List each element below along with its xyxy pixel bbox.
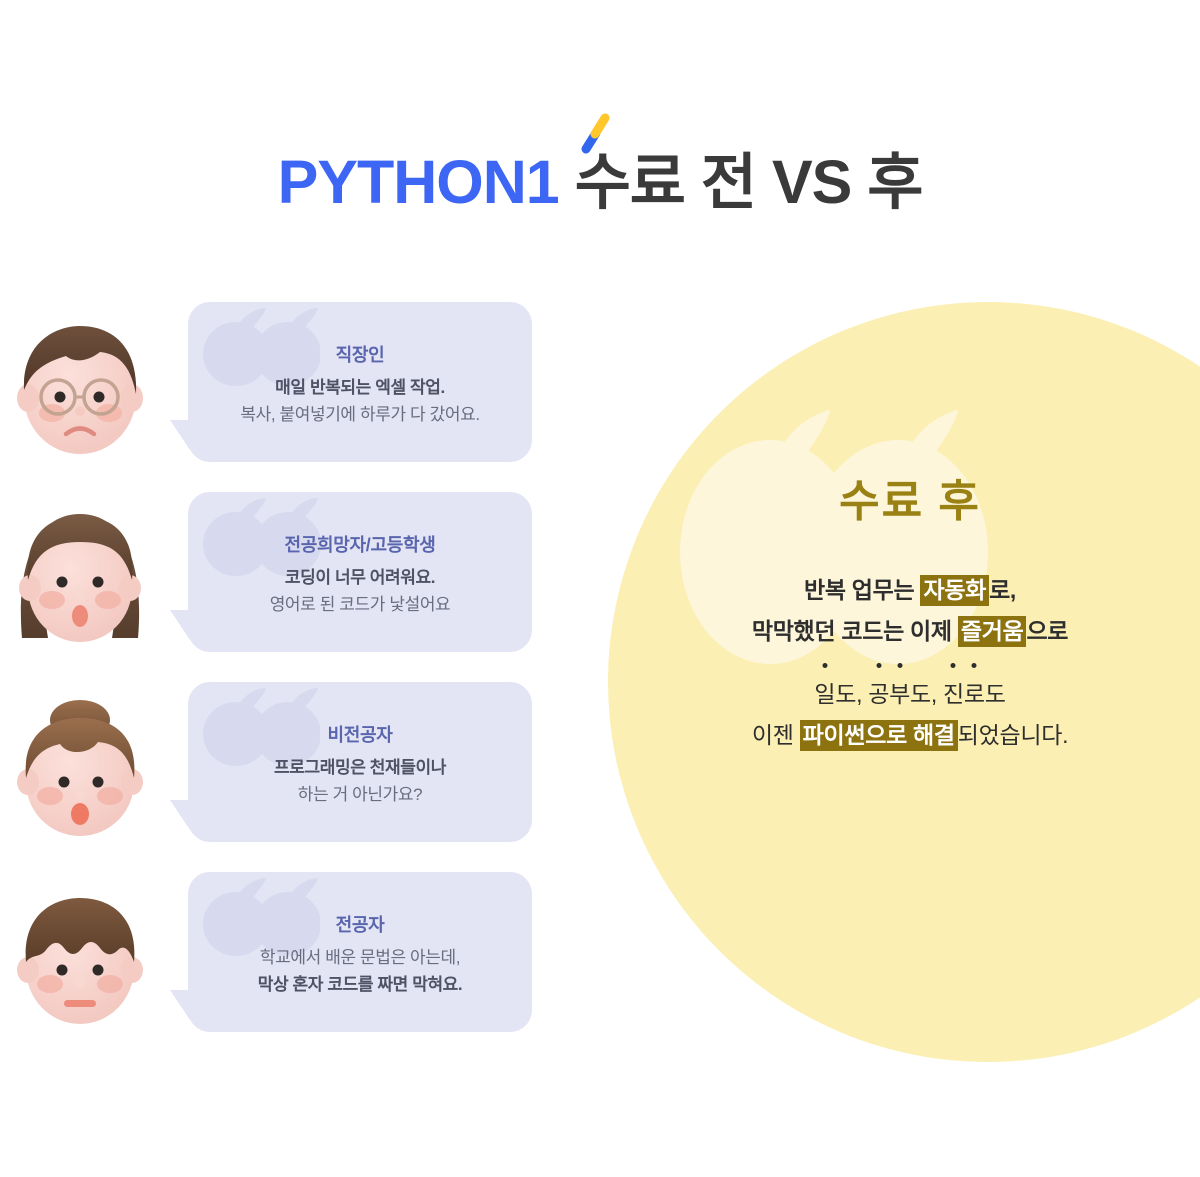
testimonial-bubble[interactable]: 직장인 매일 반복되는 엑셀 작업. 복사, 붙여넣기에 하루가 다 갔어요.	[188, 302, 532, 462]
testimonial-line-2: 하는 거 아닌가요?	[210, 782, 510, 808]
after-line-4-post: 되었습니다.	[958, 722, 1068, 748]
bubble-tail	[170, 420, 190, 450]
after-line-2-pre: 막막했던 코드는 이제	[752, 618, 958, 644]
bubble-content: 전공희망자/고등학생 코딩이 너무 어려워요. 영어로 된 코드가 낯설어요	[188, 492, 532, 652]
testimonial-line-2: 영어로 된 코드가 낯설어요	[210, 592, 510, 618]
page-title-brand: PYTHON1	[278, 148, 559, 216]
testimonial-bubble[interactable]: 전공희망자/고등학생 코딩이 너무 어려워요. 영어로 된 코드가 낯설어요	[188, 492, 532, 652]
after-line-3: 일도, 공부도, 진로도	[620, 674, 1200, 715]
bubble-content: 직장인 매일 반복되는 엑셀 작업. 복사, 붙여넣기에 하루가 다 갔어요.	[188, 302, 532, 462]
page-title: PYTHON1 수료 전 VS 후	[0, 152, 1200, 213]
after-line-3-seg: 도,	[910, 681, 943, 707]
testimonial-role: 직장인	[210, 344, 510, 367]
testimonial-role: 전공희망자/고등학생	[210, 534, 510, 557]
after-line-3-seg: 도,	[835, 681, 868, 707]
testimonial-bubble[interactable]: 비전공자 프로그래밍은 천재들이나 하는 거 아닌가요?	[188, 682, 532, 842]
after-line-1-post: 로,	[989, 577, 1016, 603]
testimonial-line-1: 학교에서 배운 문법은 아는데,	[210, 945, 510, 971]
page-header: PYTHON1 수료 전 VS 후	[0, 152, 1200, 213]
after-line-3-seg: 일	[814, 674, 835, 715]
bun-hair-woman-surprised-avatar	[14, 698, 146, 840]
after-line-2-post: 으로	[1026, 618, 1068, 644]
after-content: 수료 후 반복 업무는 자동화로, 막막했던 코드는 이제 즐거움으로 일도, …	[620, 480, 1200, 756]
office-worker-glasses-frowning-avatar	[14, 318, 146, 460]
testimonial-line-1: 코딩이 너무 어려워요.	[210, 565, 510, 591]
testimonial-role: 전공자	[210, 914, 510, 937]
bubble-tail	[170, 610, 190, 640]
after-line-1: 반복 업무는 자동화로,	[620, 570, 1200, 611]
page-title-rest	[559, 148, 575, 216]
testimonial-line-2: 막상 혼자 코드를 짜면 막혀요.	[210, 972, 510, 998]
bowl-cut-boy-neutral-avatar	[14, 888, 146, 1030]
after-line-3-seg: 공	[868, 674, 889, 715]
after-title: 수료 후	[620, 480, 1200, 524]
after-line-4-pre: 이젠	[752, 722, 800, 748]
after-line-3-seg: 진	[943, 674, 964, 715]
after-line-3-seg: 부	[889, 674, 910, 715]
testimonial-line-1: 프로그래밍은 천재들이나	[210, 755, 510, 781]
long-hair-girl-surprised-avatar	[14, 508, 146, 650]
testimonial-role: 비전공자	[210, 724, 510, 747]
after-spacer	[620, 652, 1200, 674]
bubble-content: 비전공자 프로그래밍은 천재들이나 하는 거 아닌가요?	[188, 682, 532, 842]
bubble-content: 전공자 학교에서 배운 문법은 아는데, 막상 혼자 코드를 짜면 막혀요.	[188, 872, 532, 1032]
after-line-4-highlight: 파이썬으로 해결	[800, 720, 958, 751]
page-title-korean: 수료 전 VS 후	[575, 148, 923, 216]
after-line-1-highlight: 자동화	[920, 575, 989, 606]
testimonial-bubble[interactable]: 전공자 학교에서 배운 문법은 아는데, 막상 혼자 코드를 짜면 막혀요.	[188, 872, 532, 1032]
testimonial-line-1: 매일 반복되는 엑셀 작업.	[210, 375, 510, 401]
after-line-1-pre: 반복 업무는	[804, 577, 920, 603]
after-line-2: 막막했던 코드는 이제 즐거움으로	[620, 611, 1200, 652]
after-line-3-seg: 로	[964, 674, 985, 715]
after-line-3-seg: 도	[985, 681, 1006, 707]
testimonial-line-2: 복사, 붙여넣기에 하루가 다 갔어요.	[210, 402, 510, 428]
after-line-2-highlight: 즐거움	[958, 616, 1027, 647]
after-line-4: 이젠 파이썬으로 해결되었습니다.	[620, 715, 1200, 756]
bubble-tail	[170, 800, 190, 830]
pen-accent-icon	[578, 110, 612, 156]
bubble-tail	[170, 990, 190, 1020]
